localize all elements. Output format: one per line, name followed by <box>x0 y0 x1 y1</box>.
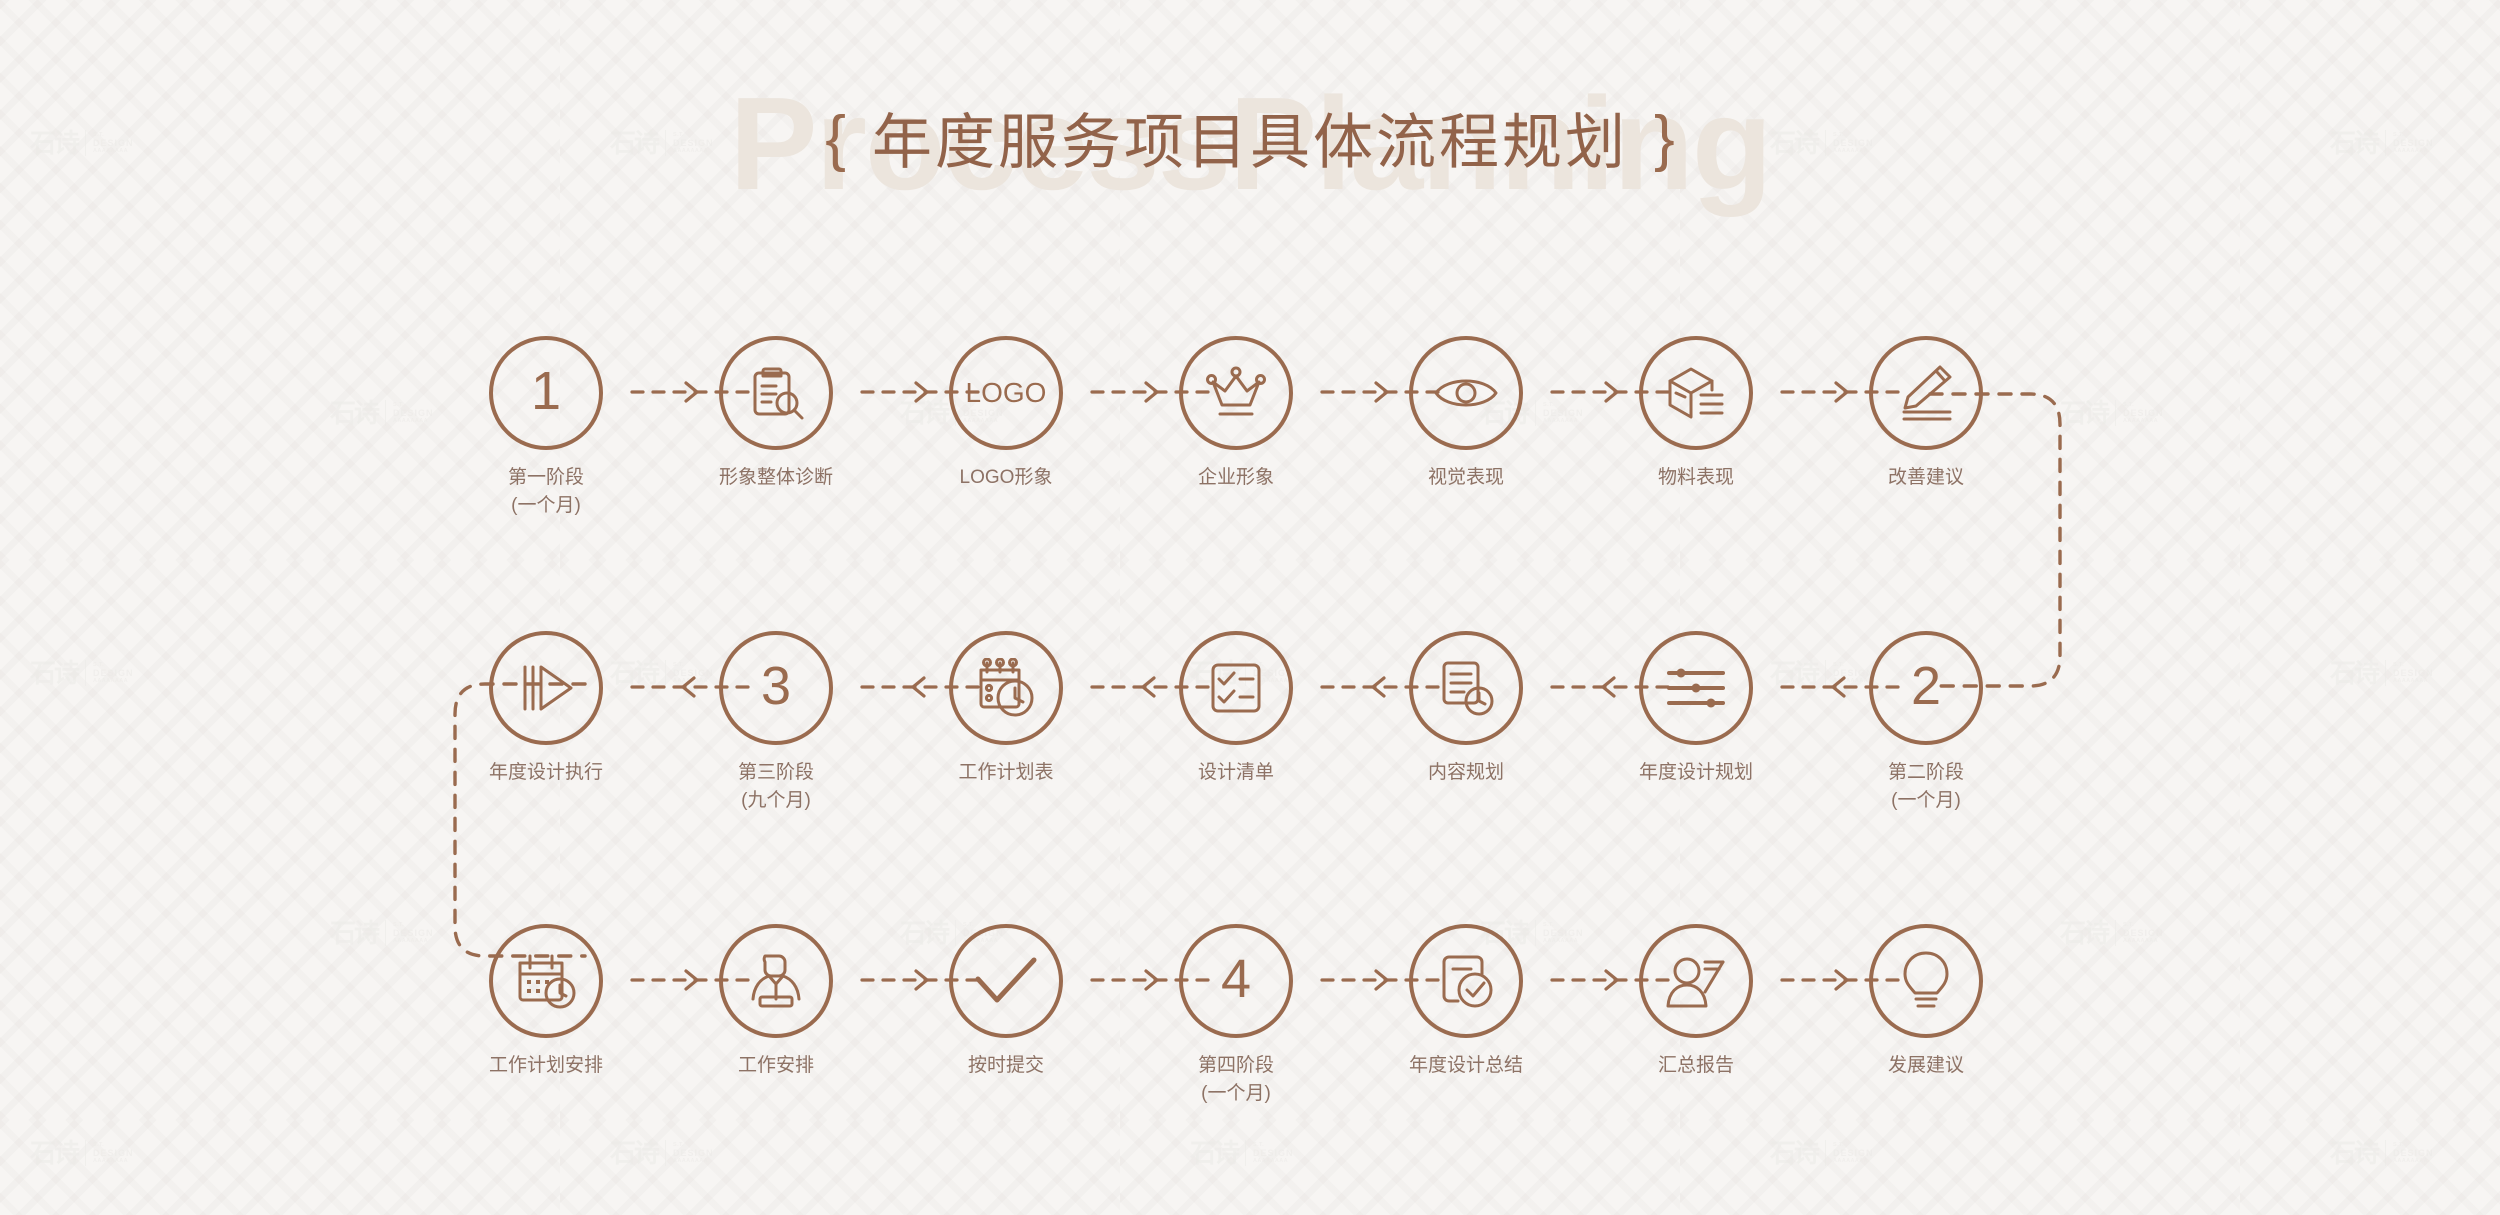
node-circle[interactable] <box>1409 631 1523 745</box>
watermark-divider <box>665 130 666 156</box>
node-circle[interactable] <box>949 924 1063 1038</box>
node-label: 工作安排 <box>691 1052 861 1080</box>
person-desk-icon <box>748 951 804 1011</box>
watermark-tile: 石诗 S.T. DESIGN AAAAAAAA <box>2330 130 2434 156</box>
flow-node[interactable]: 工作安排 <box>691 924 861 1080</box>
node-circle[interactable] <box>489 924 603 1038</box>
flow-node[interactable]: 汇总报告 <box>1611 924 1781 1080</box>
node-label: 年度设计总结 <box>1381 1052 1551 1080</box>
watermark-mark: 石诗 <box>30 1140 78 1166</box>
node-label: 工作计划表 <box>921 759 1091 787</box>
node-circle[interactable]: 1 <box>489 336 603 450</box>
watermark-tile: 石诗 S.T. DESIGN AAAAAAAA <box>330 920 434 946</box>
watermark-text: S.T. DESIGN AAAAAAAA <box>1833 1142 1874 1164</box>
flow-node[interactable]: 改善建议 <box>1841 336 2011 492</box>
watermark-tile: 石诗 S.T. DESIGN AAAAAAAA <box>1770 1140 1874 1166</box>
header: ProcessPlanning { 年度服务项目具体流程规划 } <box>0 78 2500 140</box>
node-label: 年度设计规划 <box>1611 759 1781 787</box>
node-label: 第二阶段 <box>1841 759 2011 787</box>
watermark-divider <box>85 1140 86 1166</box>
page-title-text: 年度服务项目具体流程规划 <box>872 113 1628 173</box>
flow-node[interactable]: LOGO LOGO形象 <box>921 336 1091 492</box>
watermark-mark: 石诗 <box>2330 660 2378 686</box>
document-clock-icon <box>1436 658 1496 718</box>
node-label: 设计清单 <box>1151 759 1321 787</box>
brace-right-icon: } <box>1654 108 1675 170</box>
node-circle[interactable]: LOGO <box>949 336 1063 450</box>
node-label: 工作计划安排 <box>461 1052 631 1080</box>
watermark-divider <box>1825 660 1826 686</box>
number-three-icon: 3 <box>761 659 791 713</box>
watermark-text: S.T. DESIGN AAAAAAAA <box>2123 922 2164 944</box>
node-circle[interactable] <box>1869 336 1983 450</box>
watermark-tile: 石诗 S.T. DESIGN AAAAAAAA <box>2330 1140 2434 1166</box>
node-circle[interactable] <box>1179 336 1293 450</box>
document-check-icon <box>1437 952 1495 1010</box>
number-four-icon: 4 <box>1221 952 1251 1006</box>
watermark-tile: 石诗 S.T. DESIGN AAAAAAAA <box>30 1140 134 1166</box>
watermark-divider <box>1245 1140 1246 1166</box>
node-circle[interactable]: 3 <box>719 631 833 745</box>
play-forward-icon <box>517 661 575 715</box>
watermark-mark: 石诗 <box>330 400 378 426</box>
node-sublabel: (一个月) <box>1151 1080 1321 1108</box>
node-label: 汇总报告 <box>1611 1052 1781 1080</box>
node-circle[interactable] <box>719 336 833 450</box>
box-list-icon <box>1665 364 1727 422</box>
flow-node[interactable]: 年度设计总结 <box>1381 924 1551 1080</box>
flow-node[interactable]: 2 第二阶段 (一个月) <box>1841 631 2011 814</box>
node-circle[interactable]: 2 <box>1869 631 1983 745</box>
watermark-mark: 石诗 <box>330 920 378 946</box>
flow-node[interactable]: 内容规划 <box>1381 631 1551 787</box>
watermark-text: S.T. DESIGN AAAAAAAA <box>1253 1142 1294 1164</box>
watermark-text: S.T. DESIGN AAAAAAAA <box>393 402 434 424</box>
flow-node[interactable]: 年度设计规划 <box>1611 631 1781 787</box>
watermark-text: S.T. DESIGN AAAAAAAA <box>673 132 714 154</box>
watermark-divider <box>85 130 86 156</box>
watermark-mark: 石诗 <box>30 130 78 156</box>
node-label: 内容规划 <box>1381 759 1551 787</box>
watermark-mark: 石诗 <box>1770 1140 1818 1166</box>
watermark-text: S.T. DESIGN AAAAAAAA <box>393 922 434 944</box>
flow-node[interactable]: 1 第一阶段 (一个月) <box>461 336 631 519</box>
eye-icon <box>1433 372 1499 414</box>
watermark-text: S.T. DESIGN AAAAAAAA <box>2393 1142 2434 1164</box>
brace-left-icon: { <box>825 108 846 170</box>
watermark-mark: 石诗 <box>2330 1140 2378 1166</box>
watermark-mark: 石诗 <box>610 130 658 156</box>
watermark-mark: 石诗 <box>2330 130 2378 156</box>
node-label: 改善建议 <box>1841 464 2011 492</box>
logo-text-icon: LOGO <box>966 379 1047 407</box>
watermark-mark: 石诗 <box>1190 1140 1238 1166</box>
flow-node[interactable]: 企业形象 <box>1151 336 1321 492</box>
watermark-divider <box>385 920 386 946</box>
flow-node[interactable]: 工作计划安排 <box>461 924 631 1080</box>
flow-node[interactable]: 形象整体诊断 <box>691 336 861 492</box>
node-circle[interactable] <box>1409 336 1523 450</box>
node-sublabel: (一个月) <box>1841 787 2011 815</box>
watermark-tile: 石诗 S.T. DESIGN AAAAAAAA <box>2060 920 2164 946</box>
node-circle[interactable] <box>1869 924 1983 1038</box>
watermark-mark: 石诗 <box>610 1140 658 1166</box>
watermark-tile: 石诗 S.T. DESIGN AAAAAAAA <box>30 660 134 686</box>
flow-node[interactable]: 设计清单 <box>1151 631 1321 787</box>
watermark-divider <box>2115 920 2116 946</box>
flow-node[interactable]: 工作计划表 <box>921 631 1091 787</box>
flow-node[interactable]: 3 第三阶段 (九个月) <box>691 631 861 814</box>
watermark-divider <box>665 1140 666 1166</box>
node-label: 年度设计执行 <box>461 759 631 787</box>
watermark-tile: 石诗 S.T. DESIGN AAAAAAAA <box>1190 130 1294 156</box>
node-circle[interactable] <box>719 924 833 1038</box>
check-icon <box>973 955 1039 1007</box>
watermark-text: S.T. DESIGN AAAAAAAA <box>1833 132 1874 154</box>
flow-node[interactable]: 按时提交 <box>921 924 1091 1080</box>
watermark-tile: 石诗 S.T. DESIGN AAAAAAAA <box>1770 130 1874 156</box>
watermark-divider <box>85 660 86 686</box>
watermark-tile: 石诗 S.T. DESIGN AAAAAAAA <box>1190 1140 1294 1166</box>
node-label: 视觉表现 <box>1381 464 1551 492</box>
watermark-text: S.T. DESIGN AAAAAAAA <box>93 132 134 154</box>
node-sublabel: (九个月) <box>691 787 861 815</box>
pencil-write-icon <box>1896 364 1956 422</box>
flow-node[interactable]: 年度设计执行 <box>461 631 631 787</box>
node-label: 形象整体诊断 <box>691 464 861 492</box>
flow-node[interactable]: 物料表现 <box>1611 336 1781 492</box>
watermark-tile: 石诗 S.T. DESIGN AAAAAAAA <box>610 1140 714 1166</box>
ghost-title: ProcessPlanning <box>0 78 2500 210</box>
node-circle[interactable] <box>1639 336 1753 450</box>
node-label: 物料表现 <box>1611 464 1781 492</box>
node-label: 按时提交 <box>921 1052 1091 1080</box>
number-two-icon: 2 <box>1911 659 1941 713</box>
node-label: 企业形象 <box>1151 464 1321 492</box>
watermark-mark: 石诗 <box>1190 130 1238 156</box>
watermark-tile: 石诗 S.T. DESIGN AAAAAAAA <box>2060 400 2164 426</box>
watermark-tile: 石诗 S.T. DESIGN AAAAAAAA <box>610 130 714 156</box>
watermark-divider <box>2385 1140 2386 1166</box>
watermark-tile: 石诗 S.T. DESIGN AAAAAAAA <box>330 400 434 426</box>
watermark-mark: 石诗 <box>2060 400 2108 426</box>
node-label: 第四阶段 <box>1151 1052 1321 1080</box>
watermark-mark: 石诗 <box>1770 130 1818 156</box>
watermark-tile: 石诗 S.T. DESIGN AAAAAAAA <box>30 130 134 156</box>
watermark-divider <box>1825 1140 1826 1166</box>
sliders-icon <box>1665 665 1727 711</box>
checklist-icon <box>1207 659 1265 717</box>
watermark-divider <box>2115 400 2116 426</box>
node-sublabel: (一个月) <box>461 492 631 520</box>
watermark-text: S.T. DESIGN AAAAAAAA <box>673 1142 714 1164</box>
flow-node[interactable]: 发展建议 <box>1841 924 2011 1080</box>
clipboard-search-icon <box>745 362 807 424</box>
watermark-text: S.T. DESIGN AAAAAAAA <box>2123 402 2164 424</box>
node-circle[interactable] <box>1639 631 1753 745</box>
flow-node[interactable]: 4 第四阶段 (一个月) <box>1151 924 1321 1107</box>
person-report-icon <box>1665 954 1727 1008</box>
node-circle[interactable] <box>1179 631 1293 745</box>
watermark-mark: 石诗 <box>2060 920 2108 946</box>
node-label: LOGO形象 <box>921 464 1091 492</box>
watermark-divider <box>1825 130 1826 156</box>
infographic-canvas: 石诗 S.T. DESIGN AAAAAAAA 石诗 S.T. DESIGN A… <box>0 0 2500 1215</box>
watermark-text: S.T. DESIGN AAAAAAAA <box>1253 132 1294 154</box>
node-circle[interactable]: 4 <box>1179 924 1293 1038</box>
watermark-text: S.T. DESIGN AAAAAAAA <box>93 1142 134 1164</box>
watermark-divider <box>2385 660 2386 686</box>
node-label: 第一阶段 <box>461 464 631 492</box>
calendar-schedule-icon <box>515 952 577 1010</box>
watermark-text: S.T. DESIGN AAAAAAAA <box>93 662 134 684</box>
calendar-clock-icon <box>974 658 1038 718</box>
watermark-divider <box>665 660 666 686</box>
node-circle[interactable] <box>1409 924 1523 1038</box>
node-circle[interactable] <box>1639 924 1753 1038</box>
node-circle[interactable] <box>949 631 1063 745</box>
watermark-divider <box>2385 130 2386 156</box>
watermark-divider <box>385 400 386 426</box>
crown-icon <box>1204 365 1268 421</box>
watermark-text: S.T. DESIGN AAAAAAAA <box>2393 662 2434 684</box>
flow-node[interactable]: 视觉表现 <box>1381 336 1551 492</box>
watermark-divider <box>1245 130 1246 156</box>
number-one-icon: 1 <box>531 364 561 418</box>
node-label: 第三阶段 <box>691 759 861 787</box>
watermark-text: S.T. DESIGN AAAAAAAA <box>2393 132 2434 154</box>
lightbulb-icon <box>1901 950 1951 1012</box>
watermark-mark: 石诗 <box>30 660 78 686</box>
page-title: { 年度服务项目具体流程规划 } <box>825 112 1674 174</box>
watermark-tile: 石诗 S.T. DESIGN AAAAAAAA <box>2330 660 2434 686</box>
node-circle[interactable] <box>489 631 603 745</box>
node-label: 发展建议 <box>1841 1052 2011 1080</box>
